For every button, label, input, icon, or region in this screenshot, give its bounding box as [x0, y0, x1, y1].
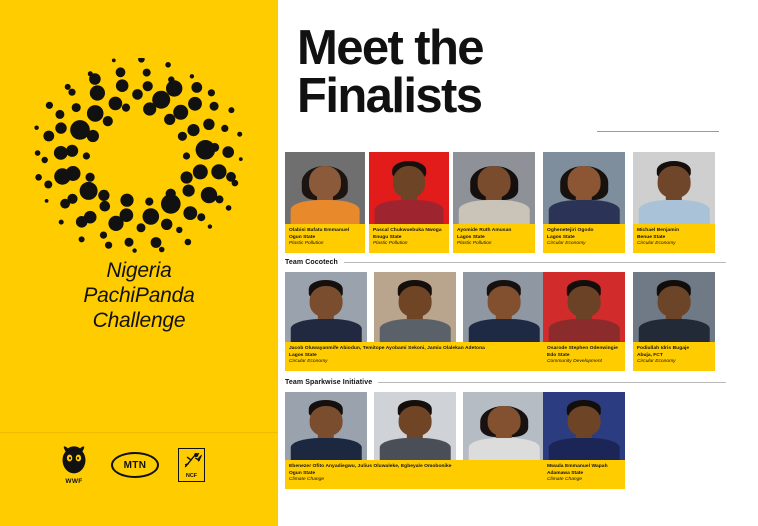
finalist-state: Ogun State	[289, 471, 541, 478]
finalist-topic: Plastic Pollution	[373, 241, 445, 248]
finalist-card[interactable]: Mwada Emmanuel Wapah Adamawa State Clima…	[543, 392, 625, 489]
brand-title: Nigeria PachiPanda Challenge	[0, 258, 278, 333]
finalist-caption: Ebenezer Ofito Anyadiegwu, Julius Oluwal…	[285, 460, 545, 489]
ncf-bird-icon	[179, 449, 206, 473]
finalist-caption: Mwada Emmanuel Wapah Adamawa State Clima…	[543, 460, 625, 489]
portrait-illustration	[543, 152, 625, 224]
ncf-logo: NCF	[178, 448, 205, 482]
finalist-photo	[463, 272, 545, 342]
poster: Nigeria PachiPanda Challenge WWF MTN	[0, 0, 758, 526]
finalist-card[interactable]: Jacob Oluwayanmife Abiodun, Temitope Ayo…	[285, 342, 545, 371]
portrait-illustration	[543, 272, 625, 342]
finalist-name: Fodiullah Idris Bugaje	[637, 346, 711, 353]
finalist-name: Osarode Stephen Odenwingie	[547, 346, 621, 353]
portrait-illustration	[453, 152, 535, 224]
mtn-wordmark: MTN	[124, 460, 147, 471]
finalist-topic: Circular Economy	[637, 359, 711, 366]
finalist-name: Ayomide Ruth Amusan	[457, 228, 531, 235]
portrait-illustration	[633, 272, 715, 342]
brand-title-line-1: Nigeria	[0, 258, 278, 283]
finalist-name: Mwada Emmanuel Wapah	[547, 464, 621, 471]
finalist-photo	[463, 392, 545, 460]
finalist-name: Oghenetejiri Ogodo	[547, 228, 621, 235]
finalist-topic: Circular Economy	[637, 241, 711, 248]
wwf-logo: WWF	[56, 446, 92, 484]
portrait-illustration	[285, 392, 367, 460]
finalist-card[interactable]: Oghenetejiri Ogodo Lagos State Circular …	[543, 152, 625, 253]
finalist-caption: Ayomide Ruth Amusan Lagos State Plastic …	[453, 224, 535, 253]
finalist-name: Jacob Oluwayanmife Abiodun, Temitope Ayo…	[289, 346, 541, 353]
sponsor-logos: WWF MTN NCF	[56, 446, 205, 484]
portrait-illustration	[285, 152, 365, 224]
finalist-card[interactable]: Ebenezer Ofito Anyadiegwu, Julius Oluwal…	[285, 460, 545, 489]
finalist-card[interactable]: Ayomide Ruth Amusan Lagos State Plastic …	[453, 152, 535, 253]
panel-divider	[0, 432, 278, 433]
finalist-caption: Osarode Stephen Odenwingie Edo State Com…	[543, 342, 625, 371]
finalist-topic: Community Development	[547, 359, 621, 366]
finalist-photo	[374, 272, 456, 342]
portrait-illustration	[374, 272, 456, 342]
portrait-illustration	[463, 272, 545, 342]
section-heading-row-3: Team Sparkwise Initiative	[285, 379, 726, 386]
finalist-photo	[374, 392, 456, 460]
page-title-line-1: Meet the	[297, 24, 483, 72]
portrait-illustration	[633, 152, 715, 224]
finalist-topic: Climate Change	[289, 477, 541, 484]
finalist-topic: Circular Economy	[547, 241, 621, 248]
finalist-card[interactable]: Pascal Chukwuebuka Nwoga Enugu State Pla…	[369, 152, 449, 253]
section-heading-rule	[378, 382, 726, 383]
finalist-caption: Oghenetejiri Ogodo Lagos State Circular …	[543, 224, 625, 253]
finalist-card[interactable]: Olabisi Bafatu Emmanuel Ogun State Plast…	[285, 152, 365, 253]
finalist-topic: Climate Change	[547, 477, 621, 484]
finalist-topic: Plastic Pollution	[289, 241, 361, 248]
section-heading-label: Team Cocotech	[285, 259, 338, 266]
section-heading-row-2: Team Cocotech	[285, 259, 726, 266]
ncf-wordmark: NCF	[179, 473, 204, 479]
brand-title-line-3: Challenge	[0, 308, 278, 333]
finalist-photo	[285, 272, 367, 342]
brand-panel: Nigeria PachiPanda Challenge WWF MTN	[0, 0, 278, 526]
page-title: Meet the Finalists	[297, 24, 483, 120]
mtn-logo: MTN	[111, 452, 159, 478]
finalist-caption: Fodiullah Idris Bugaje Abuja, FCT Circul…	[633, 342, 715, 371]
finalist-caption: Michael Benjamin Benue State Circular Ec…	[633, 224, 715, 253]
finalist-photo	[285, 392, 367, 460]
portrait-illustration	[543, 392, 625, 460]
portrait-illustration	[463, 392, 545, 460]
title-rule	[597, 131, 719, 132]
finalist-card[interactable]: Michael Benjamin Benue State Circular Ec…	[633, 152, 715, 253]
wwf-panda-icon	[56, 446, 92, 476]
wwf-wordmark: WWF	[56, 478, 92, 485]
finalist-topic: Circular Economy	[289, 359, 541, 366]
page-title-line-2: Finalists	[297, 72, 483, 120]
finalist-name: Pascal Chukwuebuka Nwoga	[373, 228, 445, 235]
section-heading-label: Team Sparkwise Initiative	[285, 379, 372, 386]
portrait-illustration	[369, 152, 449, 224]
finalist-card[interactable]: Osarode Stephen Odenwingie Edo State Com…	[543, 272, 625, 371]
finalist-name: Michael Benjamin	[637, 228, 711, 235]
finalist-topic: Plastic Pollution	[457, 241, 531, 248]
finalist-caption: Pascal Chukwuebuka Nwoga Enugu State Pla…	[369, 224, 449, 253]
portrait-illustration	[374, 392, 456, 460]
finalist-name: Ebenezer Ofito Anyadiegwu, Julius Oluwal…	[289, 464, 541, 471]
finalist-caption: Jacob Oluwayanmife Abiodun, Temitope Ayo…	[285, 342, 545, 371]
finalist-name: Olabisi Bafatu Emmanuel	[289, 228, 361, 235]
finalist-caption: Olabisi Bafatu Emmanuel Ogun State Plast…	[285, 224, 365, 253]
finalist-card[interactable]: Fodiullah Idris Bugaje Abuja, FCT Circul…	[633, 272, 715, 371]
finalists-panel: Meet the Finalists Olabisi Bafatu Emmanu…	[278, 0, 758, 526]
brand-title-line-2: PachiPanda	[0, 283, 278, 308]
section-heading-rule	[344, 262, 726, 263]
pachipanda-dot-ring-logo	[18, 58, 258, 258]
portrait-illustration	[285, 272, 367, 342]
